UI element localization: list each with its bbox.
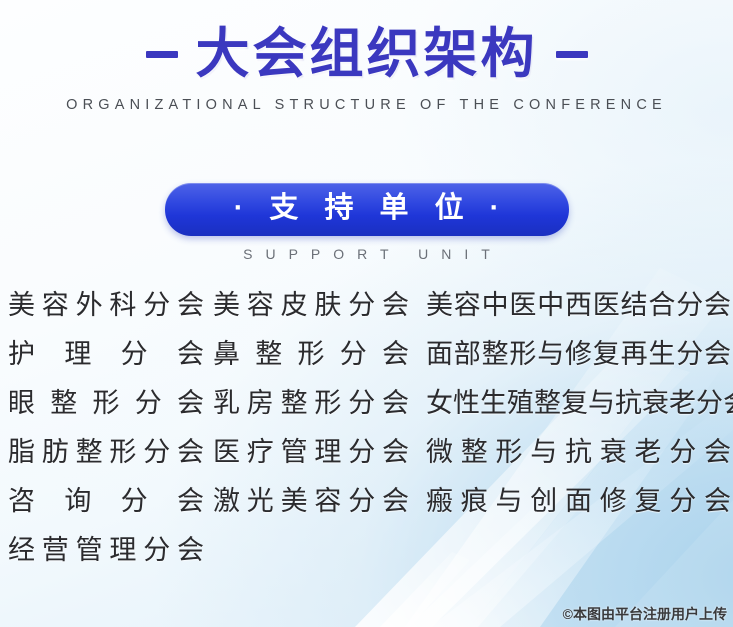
list-item: 激光美容分会 xyxy=(213,477,409,526)
support-unit-badge-subtitle: SUPPORT UNIT xyxy=(0,246,733,262)
page-subtitle: ORGANIZATIONAL STRUCTURE OF THE CONFEREN… xyxy=(0,97,733,113)
watermark-text: ©本图由平台注册用户上传 xyxy=(563,604,727,624)
page-title: 大会组织架构 xyxy=(196,26,538,83)
branch-column-3: 美容中医中西医结合分会 面部整形与修复再生分会 女性生殖整复与抗衰老分会 微整形… xyxy=(426,281,731,575)
list-item: 美容皮肤分会 xyxy=(213,281,409,330)
list-item: 美容外科分会 xyxy=(8,281,204,330)
list-item: 面部整形与修复再生分会 xyxy=(426,330,731,379)
support-unit-badge: · 支 持 单 位 · xyxy=(165,183,569,236)
list-item: 脂肪整形分会 xyxy=(8,428,204,477)
list-item: 护理分会 xyxy=(8,330,204,379)
poster-canvas: 大会组织架构 ORGANIZATIONAL STRUCTURE OF THE C… xyxy=(0,0,733,627)
poster-header: 大会组织架构 ORGANIZATIONAL STRUCTURE OF THE C… xyxy=(0,0,733,113)
list-item: 医疗管理分会 xyxy=(213,428,409,477)
list-item: 经营管理分会 xyxy=(8,526,204,575)
support-unit-badge-label: · 支 持 单 位 · xyxy=(191,192,543,225)
branch-column-1: 美容外科分会 护理分会 眼整形分会 脂肪整形分会 咨询分会 经营管理分会 xyxy=(8,281,204,575)
dash-right-icon xyxy=(556,51,588,58)
list-item: 乳房整形分会 xyxy=(213,379,409,428)
list-item: 美容中医中西医结合分会 xyxy=(426,281,731,330)
branch-columns: 美容外科分会 护理分会 眼整形分会 脂肪整形分会 咨询分会 经营管理分会 美容皮… xyxy=(0,281,733,575)
list-item: 鼻整形分会 xyxy=(213,330,409,379)
support-unit-section: · 支 持 单 位 · SUPPORT UNIT xyxy=(0,183,733,262)
list-item: 眼整形分会 xyxy=(8,379,204,428)
title-row: 大会组织架构 xyxy=(0,0,733,83)
list-item: 瘢痕与创面修复分会 xyxy=(426,477,731,526)
branch-column-2: 美容皮肤分会 鼻整形分会 乳房整形分会 医疗管理分会 激光美容分会 xyxy=(213,281,409,575)
list-item: 咨询分会 xyxy=(8,477,204,526)
dash-left-icon xyxy=(146,51,178,58)
list-item: 女性生殖整复与抗衰老分会 xyxy=(426,379,731,428)
list-item: 微整形与抗衰老分会 xyxy=(426,428,731,477)
